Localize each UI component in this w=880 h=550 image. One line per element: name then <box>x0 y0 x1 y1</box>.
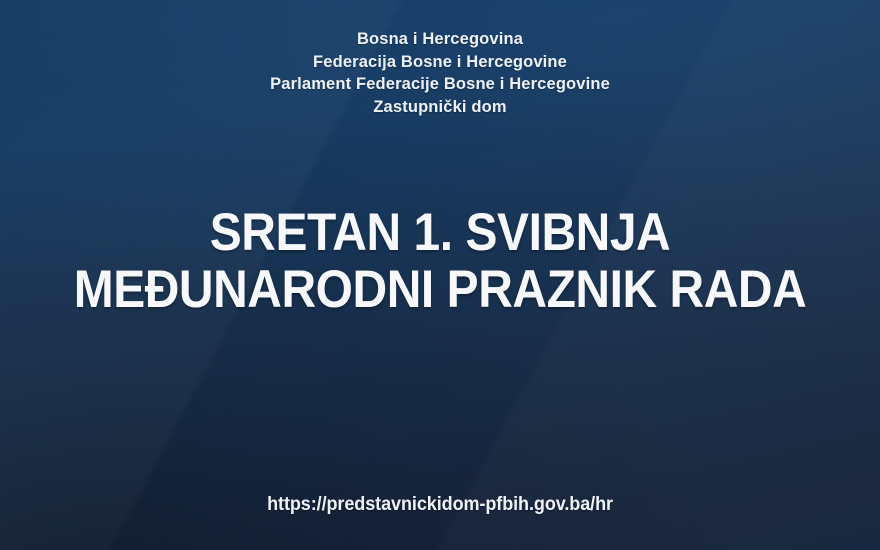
institution-header: Bosna i Hercegovina Federacija Bosne i H… <box>0 28 880 118</box>
header-line-parliament: Parlament Federacije Bosne i Hercegovine <box>0 73 880 96</box>
website-footer: https://predstavnickidom-pfbih.gov.ba/hr <box>0 494 880 516</box>
header-line-country: Bosna i Hercegovina <box>0 28 880 51</box>
announcement-slide: Bosna i Hercegovina Federacija Bosne i H… <box>0 0 880 550</box>
page-title: SRETAN 1. SVIBNJA MEĐUNARODNI PRAZNIK RA… <box>0 204 880 318</box>
header-line-chamber: Zastupnički dom <box>0 96 880 119</box>
title-line-holiday: MEĐUNARODNI PRAZNIK RADA <box>42 261 838 318</box>
website-url-link[interactable]: https://predstavnickidom-pfbih.gov.ba/hr <box>267 494 613 516</box>
title-line-greeting: SRETAN 1. SVIBNJA <box>42 204 838 261</box>
header-line-entity: Federacija Bosne i Hercegovine <box>0 51 880 74</box>
